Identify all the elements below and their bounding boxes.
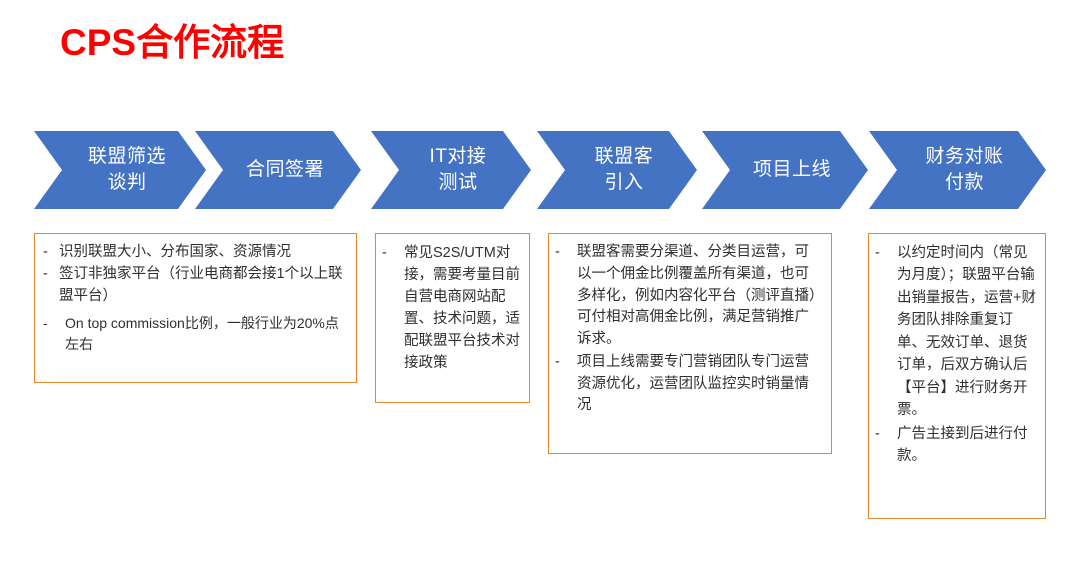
list-item-text: 签订非独家平台（行业电商都会接1个以上联盟平台）: [59, 264, 350, 307]
detail-box-alliance-screening: - 识别联盟大小、分布国家、资源情况 - 签订非独家平台（行业电商都会接1个以上…: [34, 233, 357, 383]
process-step-4-label: 联盟客 引入: [577, 144, 658, 196]
list-item-text: 以约定时间内（常见为月度）；联盟平台输出销量报告，运营+财务团队排除重复订单、无…: [897, 242, 1039, 422]
list-item: - 项目上线需要专门营销团队专门运营资源优化，运营团队监控实时销量情况: [555, 352, 823, 417]
list-item: - 广告主接到后进行付款。: [875, 423, 1039, 468]
bullet-marker: -: [555, 242, 577, 264]
bullet-marker: -: [555, 352, 577, 374]
bullet-list: - 以约定时间内（常见为月度）；联盟平台输出销量报告，运营+财务团队排除重复订单…: [875, 242, 1039, 468]
list-item-text: 识别联盟大小、分布国家、资源情况: [59, 242, 350, 263]
process-step-1[interactable]: 联盟筛选 谈判: [34, 131, 206, 209]
detail-box-affiliate-onboarding: - 联盟客需要分渠道、分类目运营，可以一个佣金比例覆盖所有渠道，也可多样化，例如…: [548, 233, 832, 454]
process-step-3-label: IT对接 测试: [412, 144, 491, 196]
process-step-5[interactable]: 项目上线: [702, 131, 868, 209]
bullet-list: - 识别联盟大小、分布国家、资源情况 - 签订非独家平台（行业电商都会接1个以上…: [43, 242, 350, 354]
list-item-text: On top commission比例，一般行业为20%点左右: [63, 313, 350, 354]
list-item-text: 广告主接到后进行付款。: [897, 423, 1039, 468]
bullet-marker: -: [382, 242, 404, 264]
process-step-2-label: 合同签署: [228, 157, 328, 183]
bullet-list: - 联盟客需要分渠道、分类目运营，可以一个佣金比例覆盖所有渠道，也可多样化，例如…: [555, 242, 823, 417]
page-title: CPS合作流程: [60, 22, 284, 65]
process-step-4[interactable]: 联盟客 引入: [537, 131, 697, 209]
detail-box-it-integration: - 常见S2S/UTM对接，需要考量目前自营电商网站配置、技术问题，适配联盟平台…: [375, 233, 530, 403]
process-step-3[interactable]: IT对接 测试: [371, 131, 531, 209]
process-flow-chevrons: 联盟筛选 谈判 合同签署 IT对接 测试 联盟客 引入 项目上线 财务对账 付款: [0, 131, 1080, 209]
bullet-marker: -: [43, 313, 63, 334]
bullet-marker: -: [875, 242, 897, 264]
list-item: - 以约定时间内（常见为月度）；联盟平台输出销量报告，运营+财务团队排除重复订单…: [875, 242, 1039, 422]
list-item-text: 联盟客需要分渠道、分类目运营，可以一个佣金比例覆盖所有渠道，也可多样化，例如内容…: [577, 242, 823, 351]
bullet-marker: -: [43, 242, 59, 263]
list-item: - 常见S2S/UTM对接，需要考量目前自营电商网站配置、技术问题，适配联盟平台…: [382, 242, 523, 374]
process-step-2[interactable]: 合同签署: [195, 131, 361, 209]
list-item: - 签订非独家平台（行业电商都会接1个以上联盟平台）: [43, 264, 350, 307]
list-item: - On top commission比例，一般行业为20%点左右: [43, 313, 350, 354]
list-item-text: 常见S2S/UTM对接，需要考量目前自营电商网站配置、技术问题，适配联盟平台技术…: [404, 242, 523, 374]
detail-box-finance-reconciliation: - 以约定时间内（常见为月度）；联盟平台输出销量报告，运营+财务团队排除重复订单…: [868, 233, 1046, 519]
list-item: - 识别联盟大小、分布国家、资源情况: [43, 242, 350, 263]
bullet-marker: -: [43, 264, 59, 285]
process-step-6-label: 财务对账 付款: [907, 144, 1007, 196]
bullet-list: - 常见S2S/UTM对接，需要考量目前自营电商网站配置、技术问题，适配联盟平台…: [382, 242, 523, 374]
list-item-text: 项目上线需要专门营销团队专门运营资源优化，运营团队监控实时销量情况: [577, 352, 823, 417]
list-item: - 联盟客需要分渠道、分类目运营，可以一个佣金比例覆盖所有渠道，也可多样化，例如…: [555, 242, 823, 351]
process-step-6[interactable]: 财务对账 付款: [869, 131, 1046, 209]
process-step-5-label: 项目上线: [735, 157, 835, 183]
bullet-marker: -: [875, 423, 897, 445]
process-step-1-label: 联盟筛选 谈判: [70, 144, 170, 196]
